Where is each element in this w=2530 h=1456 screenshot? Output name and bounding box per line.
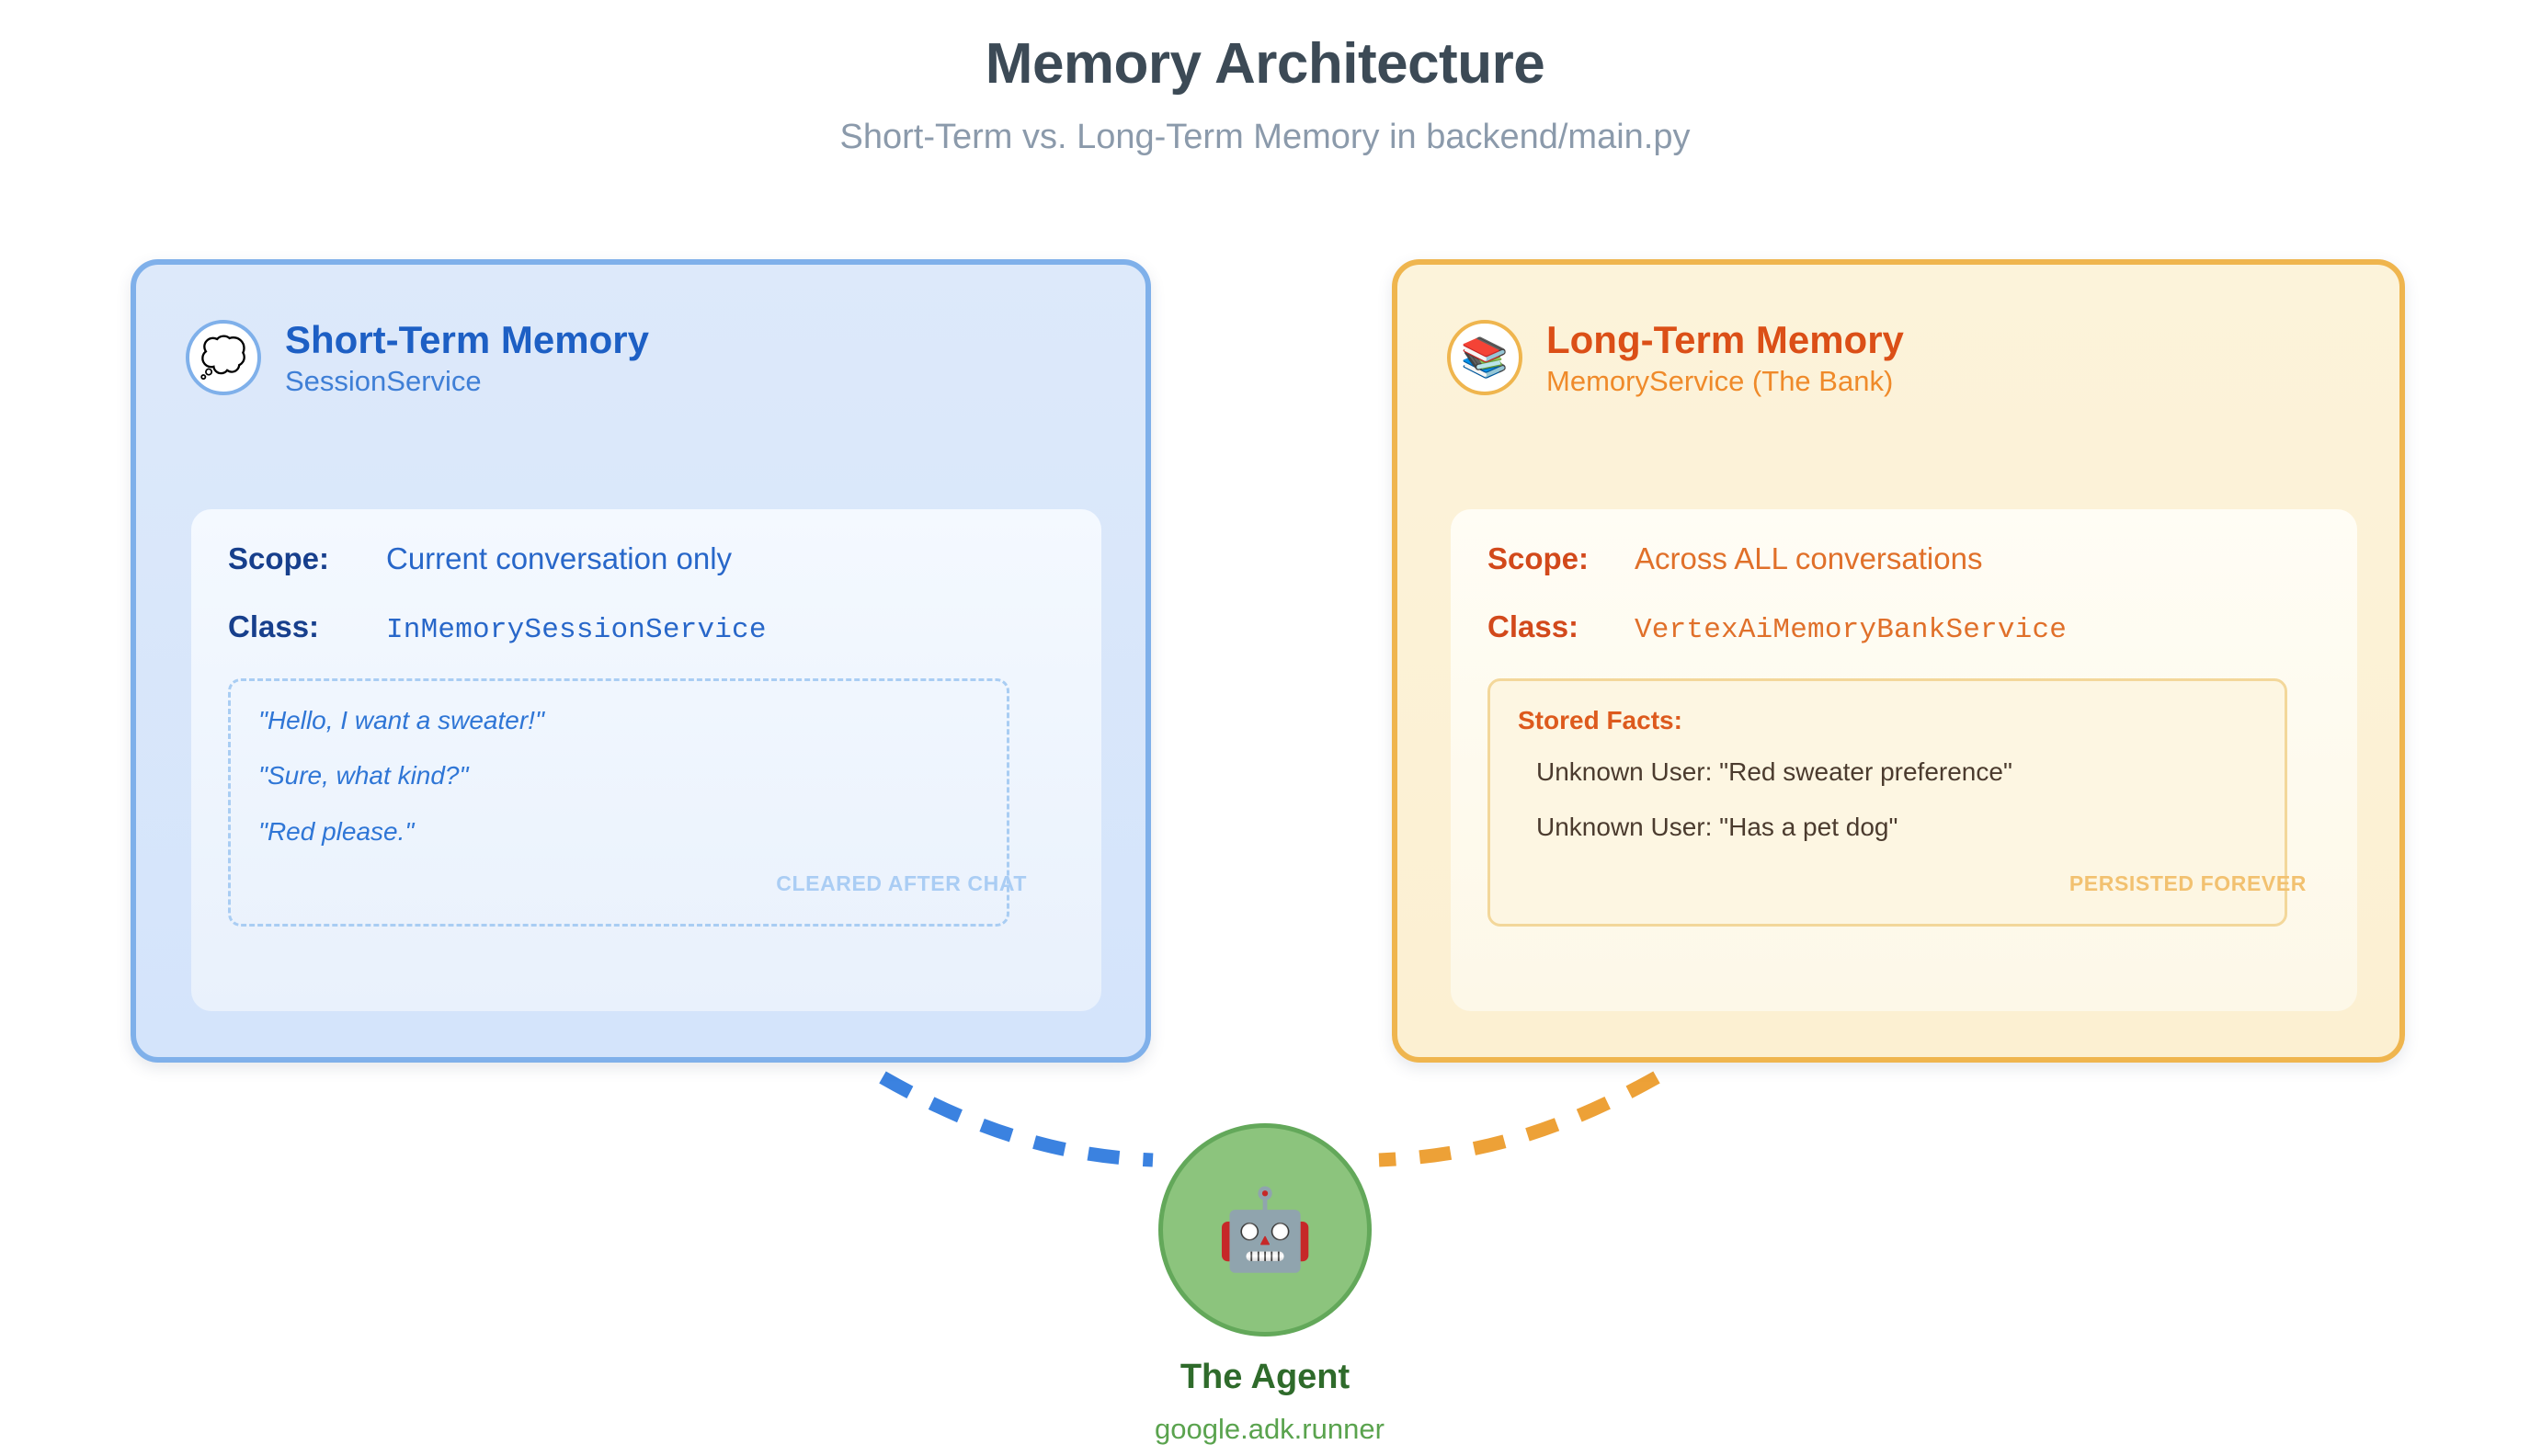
long-term-title: Long-Term Memory bbox=[1546, 318, 1904, 361]
robot-icon: 🤖 bbox=[1158, 1123, 1372, 1337]
thought-bubble-icon: 💭 bbox=[186, 320, 261, 395]
short-term-class-value: InMemorySessionService bbox=[386, 613, 767, 647]
stored-fact-item: Unknown User: "Has a pet dog" bbox=[1518, 812, 2257, 843]
short-term-detail-panel: Scope: Current conversation only Class: … bbox=[191, 509, 1101, 1011]
long-term-class-label: Class: bbox=[1487, 609, 1635, 645]
connector-long-term-to-agent bbox=[1379, 1077, 1657, 1160]
page-header: Memory Architecture Short-Term vs. Long-… bbox=[0, 0, 2530, 159]
persisted-forever-badge: PERSISTED FOREVER bbox=[2069, 871, 2307, 896]
stored-facts-title: Stored Facts: bbox=[1518, 705, 2257, 736]
books-icon: 📚 bbox=[1447, 320, 1522, 395]
agent-title: The Agent bbox=[1155, 1337, 1375, 1399]
short-term-memory-card[interactable]: 💭 Short-Term Memory SessionService Scope… bbox=[131, 259, 1151, 1063]
transcript-line: "Hello, I want a sweater!" bbox=[258, 705, 979, 736]
short-term-card-header: 💭 Short-Term Memory SessionService bbox=[186, 318, 649, 398]
stored-facts-box: Stored Facts: Unknown User: "Red sweater… bbox=[1487, 678, 2287, 927]
robot-glyph: 🤖 bbox=[1215, 1190, 1314, 1269]
long-term-class-row: Class: VertexAiMemoryBankService bbox=[1487, 609, 2320, 647]
long-term-memory-card[interactable]: 📚 Long-Term Memory MemoryService (The Ba… bbox=[1392, 259, 2405, 1063]
connector-short-term-to-agent bbox=[883, 1077, 1153, 1160]
long-term-scope-label: Scope: bbox=[1487, 540, 1635, 577]
books-glyph: 📚 bbox=[1461, 338, 1509, 377]
long-term-detail-panel: Scope: Across ALL conversations Class: V… bbox=[1451, 509, 2357, 1011]
short-term-subtitle: SessionService bbox=[285, 365, 649, 398]
agent-node[interactable]: 🤖 The Agent google.adk.runner bbox=[1155, 1123, 1375, 1446]
short-term-scope-label: Scope: bbox=[228, 540, 386, 577]
short-term-title: Short-Term Memory bbox=[285, 318, 649, 361]
long-term-header-texts: Long-Term Memory MemoryService (The Bank… bbox=[1546, 318, 1904, 398]
page-subtitle: Short-Term vs. Long-Term Memory in backe… bbox=[0, 97, 2530, 159]
stored-fact-item: Unknown User: "Red sweater preference" bbox=[1518, 756, 2257, 788]
agent-subtitle: google.adk.runner bbox=[1155, 1399, 1375, 1446]
short-term-class-label: Class: bbox=[228, 609, 386, 645]
cleared-after-chat-badge: CLEARED AFTER CHAT bbox=[776, 871, 1027, 896]
short-term-scope-row: Scope: Current conversation only bbox=[228, 540, 1065, 577]
long-term-scope-value: Across ALL conversations bbox=[1635, 540, 1982, 577]
page-title: Memory Architecture bbox=[0, 0, 2530, 97]
short-term-header-texts: Short-Term Memory SessionService bbox=[285, 318, 649, 398]
long-term-card-header: 📚 Long-Term Memory MemoryService (The Ba… bbox=[1447, 318, 1904, 398]
long-term-subtitle: MemoryService (The Bank) bbox=[1546, 365, 1904, 398]
long-term-class-value: VertexAiMemoryBankService bbox=[1635, 613, 2067, 647]
transcript-line: "Red please." bbox=[258, 816, 979, 847]
long-term-scope-row: Scope: Across ALL conversations bbox=[1487, 540, 2320, 577]
short-term-scope-value: Current conversation only bbox=[386, 540, 732, 577]
transcript-line: "Sure, what kind?" bbox=[258, 760, 979, 791]
short-term-transcript-box: "Hello, I want a sweater!" "Sure, what k… bbox=[228, 678, 1009, 927]
thought-bubble-glyph: 💭 bbox=[199, 338, 247, 377]
short-term-class-row: Class: InMemorySessionService bbox=[228, 609, 1065, 647]
